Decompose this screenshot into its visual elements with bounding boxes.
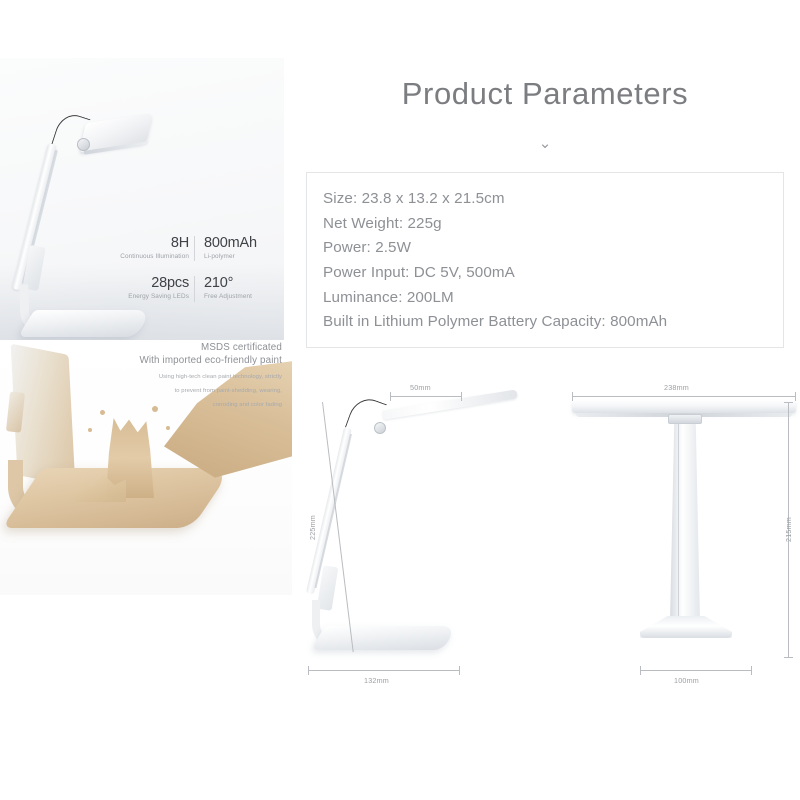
dim-tick [308,666,309,675]
feature-cell-runtime: 8H Continuous Illumination [110,236,195,261]
dim-tick [640,666,641,675]
paint-body-line1: Using high-tech clean paint technology, … [64,373,282,382]
lamp-head-panel [382,389,518,419]
chevron-down-icon: ⌄ [300,136,790,151]
paint-caption-block: MSDS certificated With imported eco-frie… [64,342,282,410]
feature-value: 800mAh [204,236,275,252]
dim-tick [390,392,391,401]
technical-drawings: 50mm 225mm 132mm 238mm 215mm [292,360,800,720]
lamp-base-plate [311,626,457,650]
spec-line-power: Power: 2.5W [323,236,767,261]
paint-heading-line1: MSDS certificated [64,342,282,355]
dim-line-front-base [640,670,752,671]
spec-line-power-input: Power Input: DC 5V, 500mA [323,261,767,286]
dim-tick [795,392,796,401]
lamp-base-plate [640,616,732,638]
feature-cell-battery: 800mAh Li-polymer [195,236,280,261]
dim-label-base-length: 132mm [364,676,389,685]
paint-body-line2: to prevent from paint-shedding, wearing, [64,387,282,396]
paint-splash-photo: MSDS certificated With imported eco-frie… [0,340,292,595]
side-view-drawing [310,378,525,688]
dim-tick [461,392,462,401]
dim-label-front-width: 238mm [664,383,689,392]
lamp-head-panel [572,400,796,413]
feature-row: 28pcs Energy Saving LEDs 210° Free Adjus… [110,276,280,301]
dim-tick [751,666,752,675]
dim-tick [784,657,793,658]
dim-line-head-depth [390,396,462,397]
dim-tick [572,392,573,401]
lamp-arm-highlight [314,434,351,588]
lamp-hinge [374,422,386,434]
paint-droplet [166,426,170,430]
product-detail-page: 8H Continuous Illumination 800mAh Li-pol… [0,0,800,800]
dim-label-front-height: 215mm [784,517,793,542]
page-title: Product Parameters [300,76,790,112]
feature-label: Continuous Illumination [115,252,189,262]
spec-line-size: Size: 23.8 x 13.2 x 21.5cm [323,187,767,212]
spec-line-battery: Built in Lithium Polymer Battery Capacit… [323,310,767,335]
paint-body-line3: corroding and color fading [64,401,282,410]
paint-droplet [88,428,92,432]
dim-label-head-depth: 50mm [410,383,431,392]
dim-label-front-base: 100mm [674,676,699,685]
lamp-hinge [77,138,90,151]
dim-line-base-length [308,670,460,671]
feature-row: 8H Continuous Illumination 800mAh Li-pol… [110,236,280,261]
feature-value: 8H [115,236,189,252]
dim-tick [784,402,793,403]
lamp-hinge [668,414,702,424]
paint-heading-line2: With imported eco-friendly paint [64,355,282,368]
dim-label-side-height: 225mm [308,515,317,540]
dim-tick [459,666,460,675]
feature-label: Li-polymer [204,252,275,262]
feature-label: Free Adjustment [204,292,275,302]
spec-line-net-weight: Net Weight: 225g [323,212,767,237]
paint-droplet [100,410,105,415]
feature-value: 210° [204,276,275,292]
hero-product-photo: 8H Continuous Illumination 800mAh Li-pol… [0,58,284,342]
front-view-drawing [572,378,800,688]
specifications-box: Size: 23.8 x 13.2 x 21.5cm Net Weight: 2… [306,172,784,348]
lamp-arm-highlight [678,424,679,622]
feature-value: 28pcs [115,276,189,292]
lamp-arm [670,424,700,622]
spec-line-luminance: Luminance: 200LM [323,286,767,311]
feature-highlight-grid: 8H Continuous Illumination 800mAh Li-pol… [110,236,280,317]
feature-cell-adjustment: 210° Free Adjustment [195,276,280,301]
feature-cell-leds: 28pcs Energy Saving LEDs [110,276,195,301]
feature-label: Energy Saving LEDs [115,292,189,302]
dim-line-front-width [572,396,796,397]
